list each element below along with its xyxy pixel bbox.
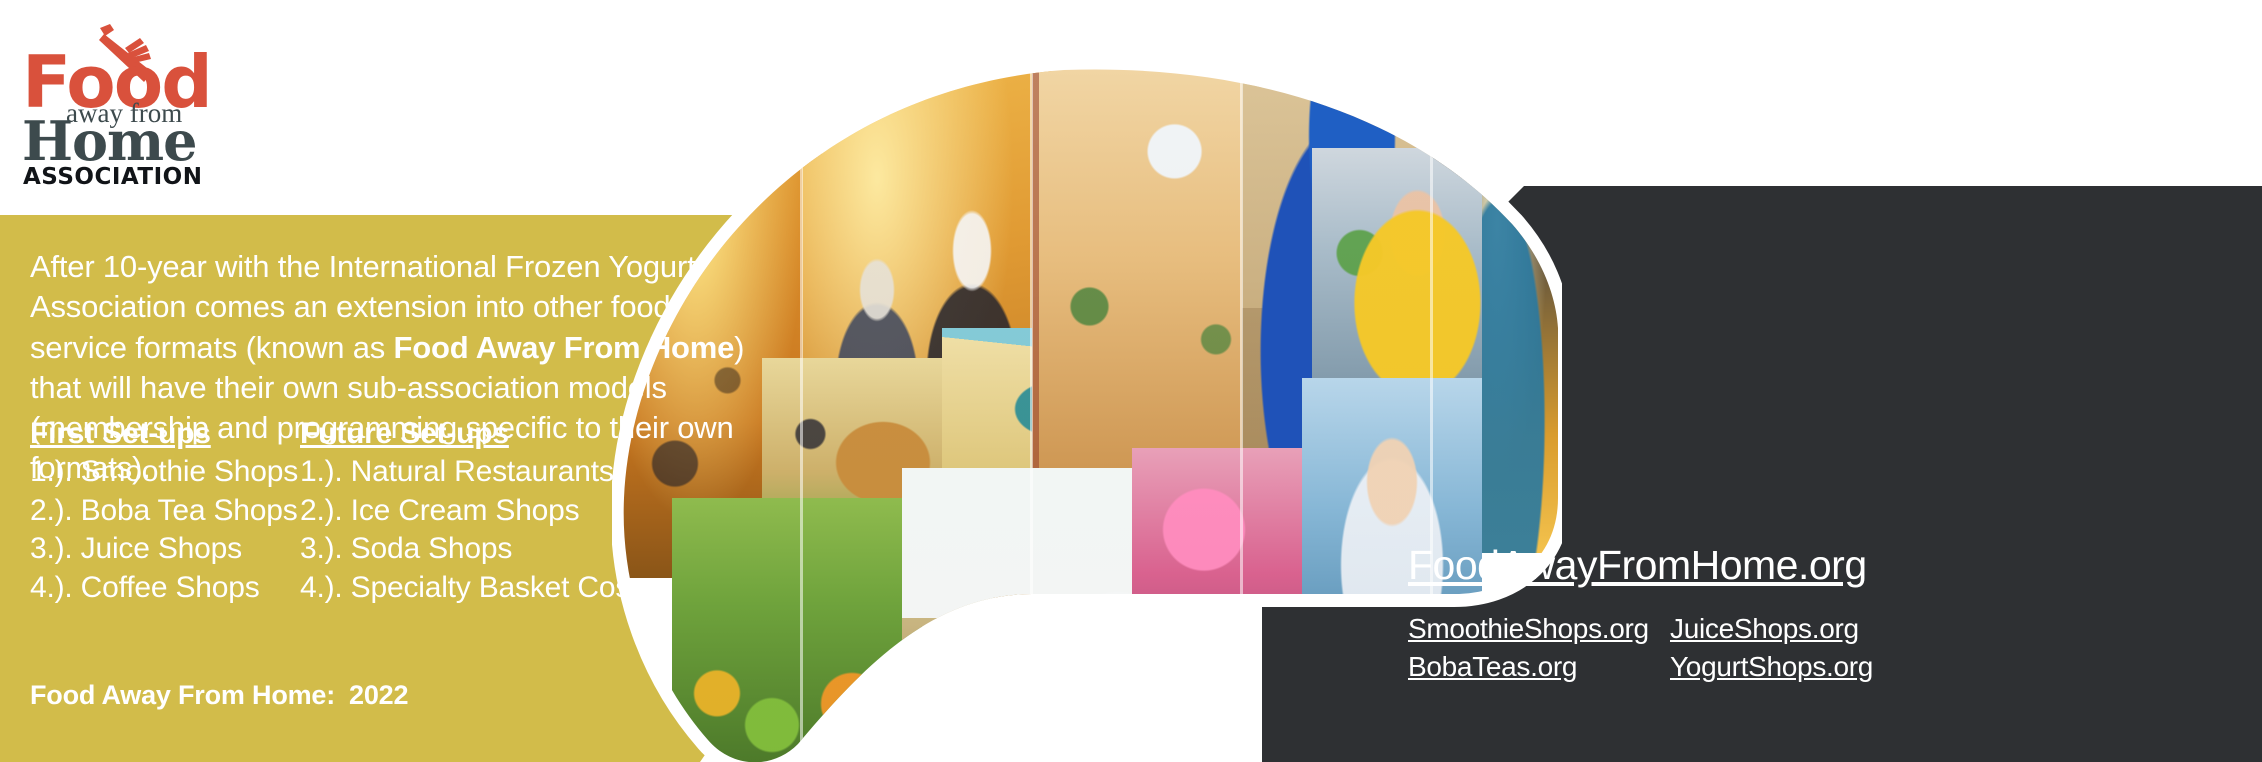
future-setups-item-4: 4.). Specialty Basket Cos (300, 569, 630, 607)
future-setups-column: Future Set-ups 1.). Natural Restaurants … (300, 415, 630, 607)
future-setups-item-3: 3.). Soda Shops (300, 530, 630, 568)
band-footer-year: 2022 (335, 680, 408, 710)
future-setups-item-1: 1.). Natural Restaurants (300, 453, 630, 491)
sub-link-juiceshops[interactable]: JuiceShops.org (1670, 610, 1910, 648)
poster-canvas: Food away from Home ASSOCIATION After 10… (0, 0, 2262, 762)
first-setups-item-2: 2.). Boba Tea Shops (30, 492, 298, 530)
first-setups-item-1: 1.). Smoothie Shops (30, 453, 298, 491)
future-setups-item-2: 2.). Ice Cream Shops (300, 492, 630, 530)
association-logo: Food away from Home ASSOCIATION (14, 16, 274, 156)
paragraph-bold-run: Food Away From Home (393, 330, 734, 365)
first-setups-heading: First Set-ups (30, 415, 298, 453)
first-setups-item-4: 4.). Coffee Shops (30, 569, 298, 607)
logo-word-home: Home (22, 114, 197, 168)
logo-word-association: ASSOCIATION (23, 166, 202, 189)
links-group: FoodAwayFromHome.org SmoothieShops.org J… (1262, 186, 2262, 762)
first-setups-column: First Set-ups 1.). Smoothie Shops 2.). B… (30, 415, 298, 607)
sub-link-smoothieshops[interactable]: SmoothieShops.org (1408, 610, 1648, 648)
sub-website-links: SmoothieShops.org JuiceShops.org BobaTea… (1408, 610, 2008, 686)
band-footer-label: Food Away From Home: (30, 680, 335, 710)
first-setups-item-3: 3.). Juice Shops (30, 530, 298, 568)
band-footer: Food Away From Home:2022 (30, 680, 408, 711)
sub-link-bobateas[interactable]: BobaTeas.org (1408, 648, 1648, 686)
gold-band-content: After 10-year with the International Fro… (0, 215, 1060, 762)
sub-link-yogurtshops[interactable]: YogurtShops.org (1670, 648, 1910, 686)
future-setups-heading: Future Set-ups (300, 415, 630, 453)
main-website-link[interactable]: FoodAwayFromHome.org (1408, 542, 1867, 589)
